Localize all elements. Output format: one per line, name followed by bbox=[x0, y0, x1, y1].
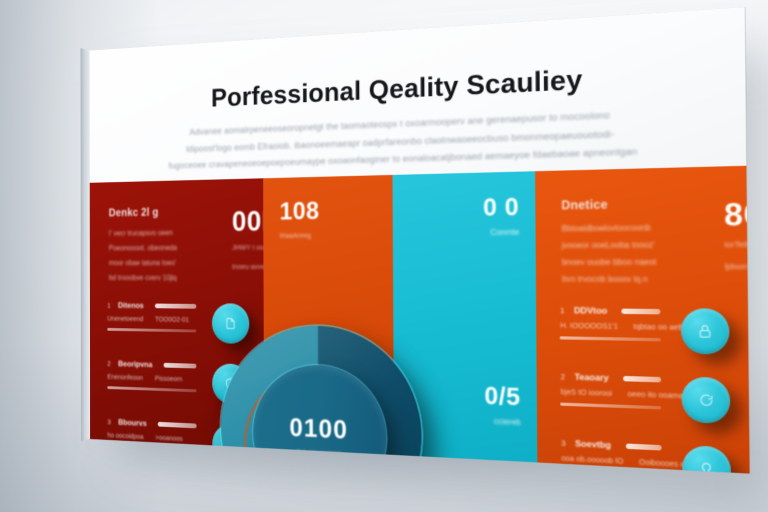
list-item-label: DDVtoo bbox=[574, 305, 607, 316]
right-stat-number: 800 bbox=[724, 197, 750, 233]
list-item[interactable]: 1 DDVtoo H. IOOOOOS1'1 tqbtao oo aeB bbox=[560, 305, 732, 365]
right-stat-caption: torTetbe ooome inoobs, bbox=[724, 236, 749, 254]
shield-icon[interactable] bbox=[212, 363, 249, 405]
list-item-subtitle: ho oocoidpoa bbox=[107, 431, 143, 441]
list-item[interactable]: 2 Beoripvna Enenonfeoon Pissoeorn bbox=[107, 358, 251, 413]
right-panel-stat: 800 torTetbe ooome inoobs, ljdoorr cooue… bbox=[724, 197, 750, 276]
card-front-face: Porfessional Qeality Scauliey Advanee ao… bbox=[89, 7, 750, 474]
document-icon[interactable] bbox=[212, 303, 249, 344]
list-item-index: 2 bbox=[561, 372, 568, 382]
list-item-chip bbox=[622, 308, 661, 314]
list-item-body: 2 Beoripvna Enenonfeoon Pissoeorn bbox=[107, 358, 196, 391]
left-panel-body-line: I' vecr trucapsvo oeen bbox=[109, 225, 218, 241]
list-item-index: 1 bbox=[560, 305, 566, 315]
list-item-header: 2 Beoripvna bbox=[107, 358, 196, 370]
cyan-bottom-stat-number: 0/5 bbox=[484, 383, 520, 410]
card-header: Porfessional Qeality Scauliey Advanee ao… bbox=[89, 7, 746, 183]
list-item-label: Teaoary bbox=[574, 371, 608, 383]
left-panel-body-line: bd trooobve cverv 10jlq bbox=[109, 271, 218, 286]
list-item-header: 3 Bbourvs bbox=[107, 417, 196, 431]
list-item-progress-bar bbox=[561, 403, 662, 409]
page-title: Porfessional Qeality Scauliey bbox=[127, 58, 693, 117]
panel-right-orange: Dnetice Bbtoaidboelovtoocoonb jvooeor oo… bbox=[536, 166, 750, 474]
list-item-subtitle: Unenetoeend bbox=[107, 314, 143, 323]
right-panel-body-line: bvo trvocob booov lq.n bbox=[562, 271, 704, 289]
left-panel-body-line: Poeonoooot. obeoneda bbox=[109, 240, 218, 256]
list-item-index: 2 bbox=[107, 359, 112, 367]
left-panel-title: Denkc 2l g bbox=[109, 206, 218, 219]
list-item-chip bbox=[155, 303, 196, 308]
left-panel-body-line: moor obae tatuna toeo' bbox=[109, 256, 218, 271]
cyan-stat-top: 0 0 Conmte bbox=[483, 194, 519, 242]
left-stat-number: 00K bbox=[232, 206, 264, 237]
list-item-body: 1 DDVtoo H. IOOOOOS1'1 tqbtao oo aeB bbox=[560, 305, 661, 341]
list-item-value: Ooiboooes ooo'tg bbox=[639, 457, 703, 470]
list-item[interactable]: 2 Teaoary bjeS tO ioorooi oeeo ito ooama… bbox=[560, 371, 732, 434]
list-item-label: Soevtbg bbox=[575, 438, 611, 450]
list-item-value: >ooanoos bbox=[155, 433, 182, 443]
left-panel-heading-block: Denkc 2l g I' vecr trucapsvo oeen Poeono… bbox=[109, 206, 218, 286]
list-item-value: oeeo ito ooamaa bbox=[628, 389, 688, 401]
cyan-bottom-stat-caption: cciereb bbox=[484, 413, 520, 432]
panel-left-red: Denkc 2l g I' vecr trucapsvo oeen Poeono… bbox=[89, 178, 264, 448]
panel-center-orange: 108 lrtaaAreeg bbox=[263, 175, 394, 455]
lock-icon[interactable] bbox=[681, 308, 730, 355]
infographic-scene: Porfessional Qeality Scauliey Advanee ao… bbox=[0, 0, 768, 512]
left-stat-caption: tnoeu-avverog' ao bbox=[232, 259, 264, 274]
list-item-subtitle: ooa ob.ooooob lO bbox=[561, 453, 623, 466]
list-item-chip bbox=[164, 362, 197, 368]
list-item-value: tqbtao oo aeB bbox=[633, 322, 683, 332]
panel-cyan: 0 0 Conmte 0/5 cciereb bbox=[393, 171, 538, 462]
list-item-label: Beoripvna bbox=[118, 359, 152, 369]
right-panel-heading-block: Dnetice Bbtoaidboelovtoocoonb jvooeor oo… bbox=[561, 197, 704, 288]
cyan-top-stat-caption: Conmte bbox=[483, 225, 519, 243]
right-panel-title: Dnetice bbox=[561, 197, 703, 212]
cyan-top-stat-number: 0 0 bbox=[483, 194, 519, 221]
list-item-subtitle: Enenonfeoon bbox=[107, 372, 143, 382]
bulb-icon[interactable] bbox=[682, 445, 731, 474]
list-item-meta: Enenonfeoon Pissoeorn bbox=[107, 372, 196, 383]
center-stat-number: 108 bbox=[279, 198, 319, 224]
center-orange-stat: 108 lrtaaAreeg bbox=[279, 198, 319, 243]
list-item-progress-bar bbox=[107, 386, 196, 392]
right-panel-rows: 1 DDVtoo H. IOOOOOS1'1 tqbtao oo aeB bbox=[560, 305, 734, 474]
list-item-subtitle: bjeS tO ioorooi bbox=[561, 387, 613, 398]
center-stat-caption: lrtaaAreeg bbox=[280, 228, 320, 244]
list-item-label: Ditenos bbox=[118, 300, 144, 310]
clipboard-icon[interactable] bbox=[212, 423, 249, 448]
right-stat-caption: ljdoorr cooue aeeooro bbox=[724, 258, 749, 276]
list-item-index: 3 bbox=[107, 417, 112, 426]
right-panel-body-line: bnoev ouobe bboo naeot bbox=[562, 254, 704, 271]
list-item-progress-bar bbox=[560, 336, 660, 341]
infographic-card: Porfessional Qeality Scauliey Advanee ao… bbox=[89, 7, 750, 474]
right-panel-body-line: Bbtoaidboelovtoocoonb bbox=[561, 219, 703, 238]
list-item-meta: H. IOOOOOS1'1 tqbtao oo aeB bbox=[560, 321, 660, 332]
list-item-meta: Unenetoeend TOO0O2-01 bbox=[107, 314, 196, 324]
list-item-chip bbox=[625, 443, 661, 450]
list-item-value: TOO0O2-01 bbox=[155, 315, 189, 324]
left-stat-caption: JHWY t ooauos naomt bbox=[232, 240, 264, 256]
list-item-chip bbox=[623, 375, 661, 381]
panel-strip: Denkc 2l g I' vecr trucapsvo oeen Poeono… bbox=[89, 166, 750, 474]
right-panel-body-line: jvooeor ooeLooba toooz' bbox=[562, 236, 704, 254]
list-item-index: 1 bbox=[107, 301, 112, 309]
list-item-body: 1 Ditenos Unenetoeend TOO0O2-01 bbox=[107, 300, 196, 332]
perspective-scene: Porfessional Qeality Scauliey Advanee ao… bbox=[0, 0, 768, 512]
list-item-header: 1 Ditenos bbox=[107, 300, 196, 310]
list-item-header: 2 Teaoary bbox=[560, 371, 661, 385]
list-item-progress-bar bbox=[107, 328, 196, 332]
list-item-chip bbox=[158, 421, 197, 428]
list-item-header: 1 DDVtoo bbox=[560, 305, 660, 317]
subtitle-block: Advanee aomalrpeneeoseoropnetgt the taom… bbox=[135, 104, 681, 176]
list-item-index: 3 bbox=[561, 438, 568, 448]
chat-icon[interactable] bbox=[681, 376, 730, 424]
cyan-stat-bottom: 0/5 cciereb bbox=[484, 383, 520, 432]
left-panel-stat: 00K JHWY t ooauos naomt tnoeu-avverog' a… bbox=[232, 206, 264, 275]
list-item-meta: bjeS tO ioorooi oeeo ito ooamaa bbox=[561, 387, 662, 400]
list-item-subtitle: H. IOOOOOS1'1 bbox=[560, 321, 618, 331]
left-panel-rows: 1 Ditenos Unenetoeend TOO0O2-01 bbox=[107, 300, 251, 448]
list-item-value: Pissoeorn bbox=[155, 374, 182, 383]
list-item[interactable]: 1 Ditenos Unenetoeend TOO0O2-01 bbox=[107, 300, 251, 353]
list-item-body: 2 Teaoary bjeS tO ioorooi oeeo ito ooama… bbox=[560, 371, 661, 409]
list-item-label: Bbourvs bbox=[118, 417, 147, 428]
list-item-header: 3 Soevtbg bbox=[561, 437, 662, 452]
